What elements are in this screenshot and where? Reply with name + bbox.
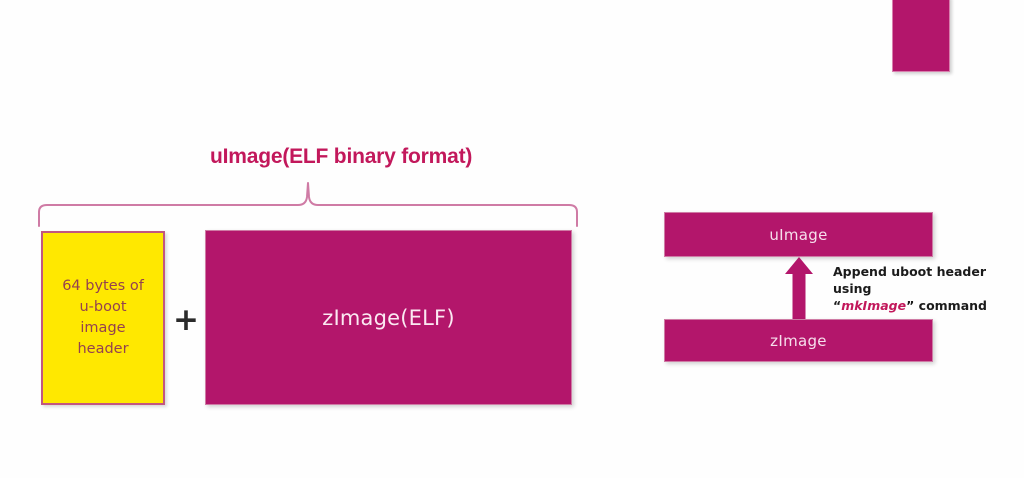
append-note-line1: Append uboot header using bbox=[833, 264, 986, 296]
append-header-note: Append uboot header using “mkImage” comm… bbox=[833, 263, 1023, 314]
zimage-bar: zImage bbox=[664, 319, 933, 362]
uimage-bar: uImage bbox=[664, 212, 933, 257]
append-note-line2-tail: command bbox=[914, 298, 987, 313]
zimage-bar-label: zImage bbox=[770, 332, 827, 350]
mkimage-command-name: mkImage bbox=[841, 298, 906, 313]
uimage-bar-label: uImage bbox=[769, 226, 827, 244]
mkimage-flow-panel: uImage Append uboot header using “mkImag… bbox=[0, 0, 1024, 478]
append-note-quote-open: “ bbox=[833, 298, 841, 313]
up-arrow-icon bbox=[784, 257, 814, 321]
